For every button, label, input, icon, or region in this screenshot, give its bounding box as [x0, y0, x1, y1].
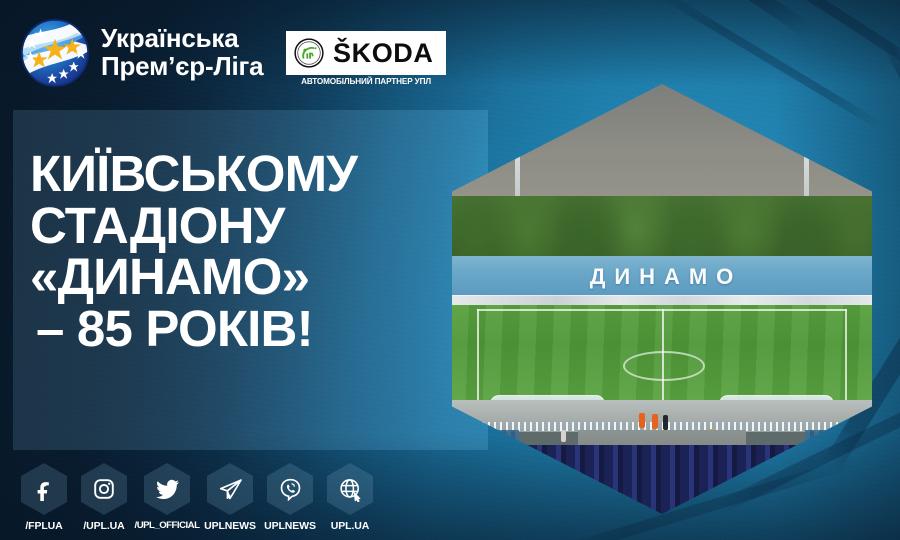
league-name-line1: Українська	[101, 24, 263, 52]
social-link-twitter[interactable]: /UPL_OFFICIAL	[134, 463, 200, 531]
social-link-telegram[interactable]: UPLNEWS	[200, 463, 260, 532]
league-name-line2: Прем’єр-Ліга	[101, 52, 263, 80]
social-link-website[interactable]: UPL.UA	[320, 463, 380, 532]
sponsor-caption: АВТОМОБІЛЬНИЙ ПАРТНЕР УПЛ	[286, 77, 446, 86]
pitch-line	[477, 309, 479, 400]
league-wordmark: Українська Прем’єр-Ліга	[101, 24, 263, 80]
poster-canvas: Українська Прем’єр-Ліга	[0, 0, 900, 540]
telegram-icon[interactable]	[207, 463, 253, 515]
stand-letters-dynamo: ДИНАМО	[452, 259, 872, 293]
social-links-bar: /FPLUA /UPL.UA /UPL_OFFICIAL	[14, 463, 380, 532]
stand-letter: И	[614, 264, 631, 290]
website-icon[interactable]	[327, 463, 373, 515]
facebook-icon[interactable]	[21, 463, 67, 515]
skoda-winged-arrow-icon	[294, 38, 324, 68]
person-on-pitchside	[639, 413, 645, 428]
stand-letter: О	[716, 264, 734, 290]
person-on-pitchside	[652, 414, 658, 429]
upl-ball-logo	[19, 17, 91, 89]
stand-letter: Н	[639, 264, 656, 290]
social-label: UPLNEWS	[204, 520, 256, 532]
headline-line-4: – 85 РОКІВ!	[30, 303, 460, 355]
sponsor-wordmark: ŠKODA	[333, 40, 434, 67]
person-on-pitchside	[663, 415, 668, 430]
stand-letter: Д	[590, 264, 607, 290]
pitch-line	[845, 309, 847, 400]
social-label: UPL.UA	[331, 520, 369, 532]
social-link-viber[interactable]: UPLNEWS	[260, 463, 320, 532]
stand-letter: М	[689, 264, 708, 290]
headline-line-2: СТАДІОНУ	[30, 200, 460, 252]
headline-line-1: КИЇВСЬКОМУ	[30, 148, 460, 200]
social-link-facebook[interactable]: /FPLUA	[14, 463, 74, 532]
social-label: /UPL_OFFICIAL	[135, 520, 200, 531]
headline-line-3: «ДИНАМО»	[30, 251, 460, 303]
social-label: UPLNEWS	[264, 520, 316, 532]
photo-pitch	[452, 305, 872, 404]
twitter-icon[interactable]	[144, 463, 190, 515]
person-on-pitchside	[561, 430, 566, 442]
photo-treeline	[452, 196, 872, 265]
pitch-centre-circle	[623, 351, 705, 381]
page-title: КИЇВСЬКОМУ СТАДІОНУ «ДИНАМО» – 85 РОКІВ!	[30, 148, 460, 354]
instagram-icon[interactable]	[81, 463, 127, 515]
social-label: /FPLUA	[25, 520, 62, 532]
sponsor-logo-box: ŠKODA	[286, 31, 446, 75]
social-label: /UPL.UA	[83, 520, 124, 532]
stand-letter: А	[664, 264, 681, 290]
social-link-instagram[interactable]: /UPL.UA	[74, 463, 134, 532]
header: Українська Прем’єр-Ліга	[0, 0, 900, 100]
viber-icon[interactable]	[267, 463, 313, 515]
